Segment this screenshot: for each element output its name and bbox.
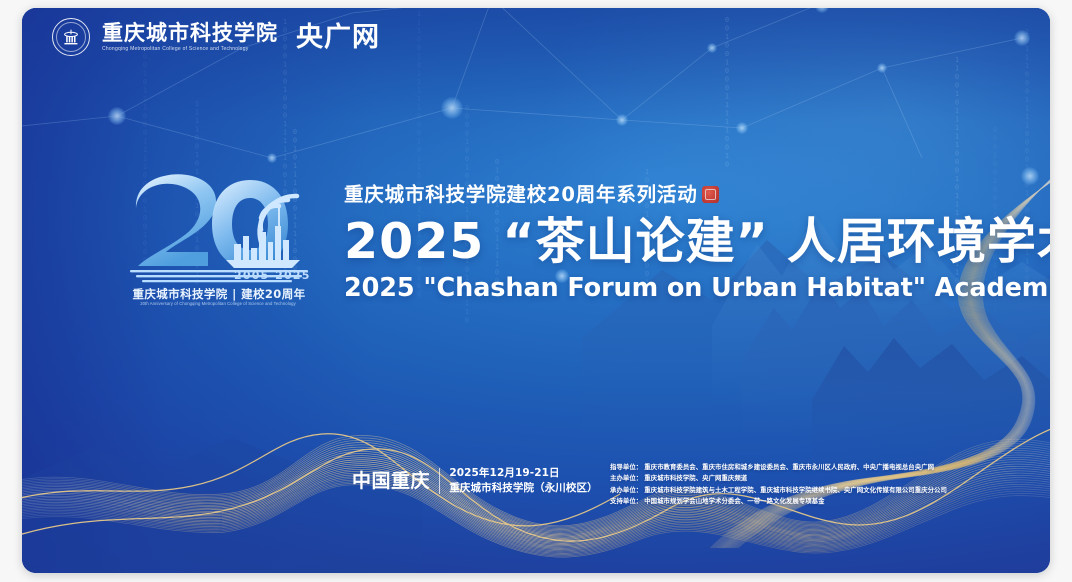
footer-divider bbox=[439, 468, 440, 494]
organizer-line: 支持单位：中国城市规划学会山地学术分委会、一带一路文化发展专项基金 bbox=[610, 497, 1010, 507]
organizer-line: 承办单位：重庆城市科技学院建筑与土木工程学院、重庆城市科技学院继续书院、央广网文… bbox=[610, 486, 1010, 496]
organizer-line: 主办单位：重庆城市科技学院、央广网重庆频道 bbox=[610, 474, 1010, 484]
organizer-line: 指导单位：重庆市教育委员会、重庆市住房和城乡建设委员会、重庆市永川区人民政府、中… bbox=[610, 463, 1010, 473]
event-kicker-text: 重庆城市科技学院建校20周年系列活动 bbox=[344, 184, 698, 205]
university-crest-icon bbox=[52, 18, 90, 56]
event-date: 2025年12月19-21日 bbox=[449, 467, 597, 480]
organizer-label: 指导单位： bbox=[610, 463, 642, 473]
organizer-credits: 指导单位：重庆市教育委员会、重庆市住房和城乡建设委员会、重庆市永川区人民政府、中… bbox=[610, 463, 1010, 507]
organizer-label: 支持单位： bbox=[610, 497, 642, 507]
host-city: 中国重庆 bbox=[352, 472, 430, 491]
anniversary-caption-cn: 重庆城市科技学院 | 建校20周年 bbox=[130, 286, 308, 302]
anniversary-20-graphic bbox=[122, 174, 314, 284]
poster-canvas: 0001011100011110000100100011110010111110… bbox=[22, 8, 1050, 573]
organizer-label: 主办单位： bbox=[610, 474, 642, 484]
red-seal-stamp-icon bbox=[702, 186, 719, 203]
university-name-block: 重庆城市科技学院 Chongqing Metropolitan College … bbox=[102, 23, 278, 52]
organizer-value: 中国城市规划学会山地学术分委会、一带一路文化发展专项基金 bbox=[644, 497, 824, 507]
anniversary-caption-en: 20th Anniversary of Chongqing Metropolit… bbox=[122, 301, 314, 306]
anniversary-emblem: 2005-2025 重庆城市科技学院 | 建校20周年 20th Anniver… bbox=[122, 174, 314, 310]
organizer-value: 重庆城市科技学院建筑与土木工程学院、重庆城市科技学院继续书院、央广网文化传媒有限… bbox=[644, 486, 947, 496]
university-name-cn: 重庆城市科技学院 bbox=[102, 23, 278, 44]
organizer-value: 重庆城市科技学院、央广网重庆频道 bbox=[644, 474, 747, 484]
anniversary-years: 2005-2025 bbox=[234, 269, 311, 282]
title-block: 重庆城市科技学院建校20周年系列活动 2025 “茶山论建” 人居环境学术节 2… bbox=[344, 184, 1044, 302]
event-kicker: 重庆城市科技学院建校20周年系列活动 bbox=[344, 184, 1044, 205]
university-name-en: Chongqing Metropolitan College of Scienc… bbox=[102, 47, 278, 52]
main-title-cn: 2025 “茶山论建” 人居环境学术节 bbox=[344, 216, 1044, 268]
header-logo-row: 重庆城市科技学院 Chongqing Metropolitan College … bbox=[52, 18, 380, 56]
organizer-value: 重庆市教育委员会、重庆市住房和城乡建设委员会、重庆市永川区人民政府、中央广播电视… bbox=[644, 463, 934, 473]
footer-location-block: 中国重庆 2025年12月19-21日 重庆城市科技学院（永川校区） bbox=[352, 467, 598, 495]
event-venue: 重庆城市科技学院（永川校区） bbox=[449, 482, 597, 495]
partner-logo-cnr: 央广网 bbox=[296, 24, 380, 51]
main-title-en: 2025 "Chashan Forum on Urban Habitat" Ac… bbox=[344, 274, 1044, 302]
organizer-label: 承办单位： bbox=[610, 486, 642, 496]
